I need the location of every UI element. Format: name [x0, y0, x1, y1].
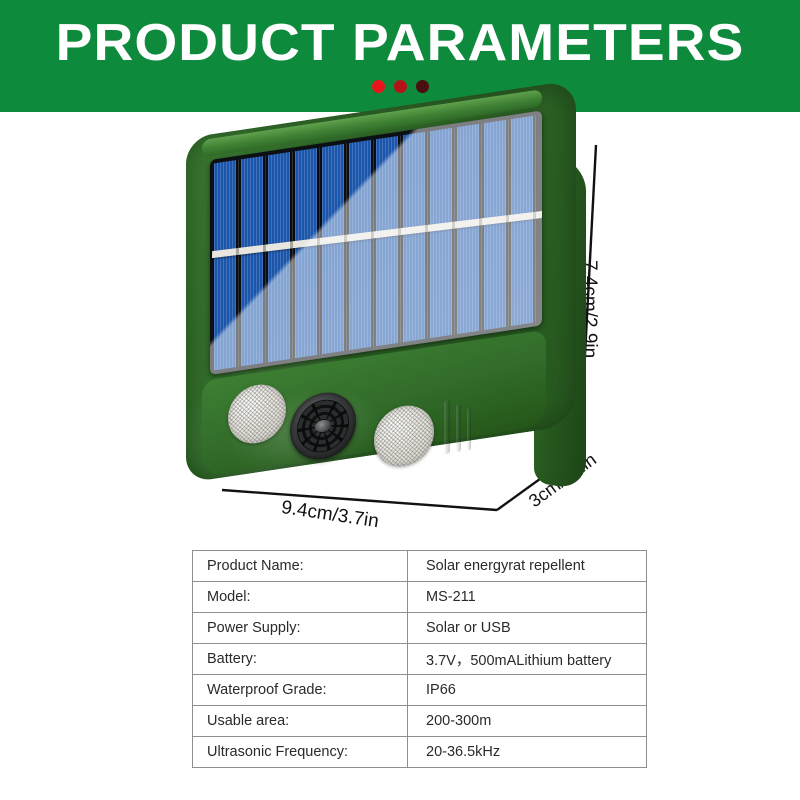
spec-key: Battery:	[193, 644, 408, 675]
header-dot-group	[0, 80, 800, 93]
spec-key: Product Name:	[193, 551, 408, 582]
spec-value: 20-36.5kHz	[408, 737, 647, 768]
table-row: Battery: 3.7V，500mALithium battery	[193, 644, 647, 675]
spec-value: Solar or USB	[408, 613, 647, 644]
spec-key: Waterproof Grade:	[193, 675, 408, 706]
device-render	[186, 138, 586, 498]
table-row: Waterproof Grade: IP66	[193, 675, 647, 706]
housing-ridge-3	[467, 408, 471, 451]
spec-key: Power Supply:	[193, 613, 408, 644]
spec-key: Usable area:	[193, 706, 408, 737]
housing-ridge-1	[444, 400, 450, 455]
specification-table-body: Product Name: Solar energyrat repellent …	[193, 551, 647, 768]
housing-ridge-2	[456, 404, 461, 453]
table-row: Product Name: Solar energyrat repellent	[193, 551, 647, 582]
table-row: Model: MS-211	[193, 582, 647, 613]
product-illustration: 7.4cm/2.9in 9.4cm/3.7in 3cm/1.2in	[0, 112, 800, 552]
dot-medium-red-icon	[394, 80, 407, 93]
page-title: PRODUCT PARAMETERS	[0, 14, 800, 72]
spec-value: Solar energyrat repellent	[408, 551, 647, 582]
dot-dark-red-icon	[416, 80, 429, 93]
ultrasonic-speaker-right	[374, 402, 434, 471]
spec-value: IP66	[408, 675, 647, 706]
spec-key: Model:	[193, 582, 408, 613]
spec-value: 3.7V，500mALithium battery	[408, 644, 647, 675]
table-row: Power Supply: Solar or USB	[193, 613, 647, 644]
spec-key: Ultrasonic Frequency:	[193, 737, 408, 768]
dimension-width-label: 9.4cm/3.7in	[280, 497, 380, 533]
header-banner: PRODUCT PARAMETERS	[0, 0, 800, 112]
spec-value: 200-300m	[408, 706, 647, 737]
dot-bright-red-icon	[372, 80, 385, 93]
table-row: Ultrasonic Frequency: 20-36.5kHz	[193, 737, 647, 768]
ultrasonic-speaker-left	[228, 381, 286, 448]
table-row: Usable area: 200-300m	[193, 706, 647, 737]
specification-table: Product Name: Solar energyrat repellent …	[192, 550, 647, 768]
spec-value: MS-211	[408, 582, 647, 613]
